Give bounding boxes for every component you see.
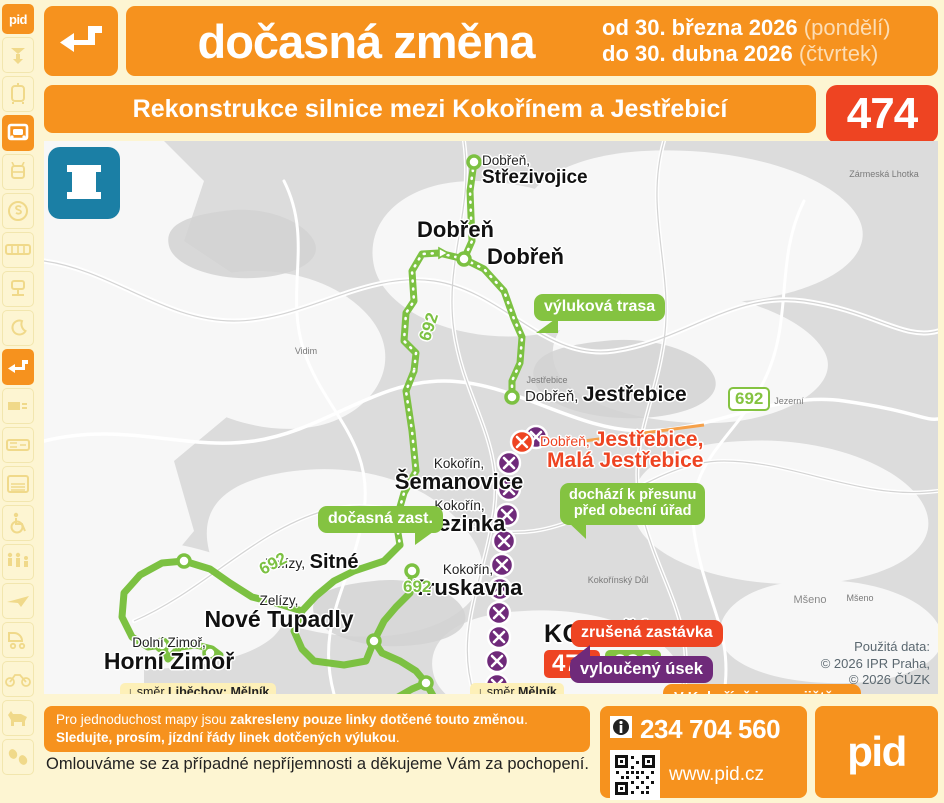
date-from-day: (pondělí)	[804, 15, 891, 40]
stop-label-jestrebice: Dobřeň, Jestřebice	[525, 384, 687, 405]
stop-name: Dobřeň	[417, 219, 494, 241]
stop-name: Sitné	[310, 551, 359, 573]
trolleybus-icon[interactable]	[2, 154, 34, 190]
callout-zrusena-zastavka: zrušená zastávka	[571, 620, 723, 647]
stop-label-nove-tupadly: Zelízy, Nové Tupadly	[164, 594, 394, 631]
bicycle-icon[interactable]	[2, 661, 34, 697]
callout-vylukova-trasa: výluková trasa	[534, 294, 665, 321]
attribution-line2: © 2026 IPR Praha,	[821, 656, 930, 672]
cancelled-stop-line1: Jestřebice,	[594, 428, 704, 451]
phone-row: 234 704 560	[610, 714, 797, 745]
svg-text:Jezerní: Jezerní	[774, 396, 804, 406]
web-row: www.pid.cz	[610, 750, 797, 800]
footer-note: Pro jednoduchost mapy jsou zakresleny po…	[44, 706, 590, 752]
callout-line1: V Kokoříně jsou zajištěny	[674, 690, 850, 694]
callout-presun: dochází k přesunu před obecní úřad	[560, 483, 705, 525]
callout-docasna-zast: dočasná zast.	[318, 506, 443, 533]
stop-name: Střezivojice	[482, 168, 588, 187]
svg-text:Zármeská Lhotka: Zármeská Lhotka	[849, 169, 919, 179]
map-canvas[interactable]: Vidim Kokořínský Důl Mšeno Jezerní Jestř…	[44, 141, 938, 694]
poster-root: pid	[0, 0, 944, 803]
stop-name: Jestřebice	[583, 383, 687, 406]
qr-code-icon	[610, 750, 660, 800]
stop-label-strezivojice: Dobřeň, Střezivojice	[482, 154, 588, 187]
page-title-text: dočasná změna	[197, 18, 534, 65]
callout-text: zrušená zastávka	[581, 624, 713, 641]
date-to-row: do 30. dubna 2026 (čtvrtek)	[602, 42, 878, 67]
footer-note-line1: Pro jednoduchost mapy jsou zakresleny po…	[56, 711, 578, 729]
svg-text:Kokořínský Důl: Kokořínský Důl	[588, 575, 649, 585]
website-url[interactable]: www.pid.cz	[669, 764, 764, 786]
callout-navaznosti: V Kokoříně jsou zajištěny návaznosti mez…	[663, 684, 861, 694]
svg-text:Vidim: Vidim	[295, 346, 317, 356]
detour-icon[interactable]	[2, 349, 34, 385]
dog-icon[interactable]	[2, 700, 34, 736]
validity-dates: od 30. března 2026 (pondělí) do 30. dubn…	[580, 6, 938, 76]
direction-tag-melnik: ↓ směr Mělník	[470, 683, 564, 694]
footer-note-line2: Sledujte, prosím, jízdní řády linek dotč…	[56, 729, 578, 747]
line-badge-474: 474	[826, 85, 938, 143]
bus-stop-icon	[48, 147, 120, 219]
info-icon	[610, 716, 632, 743]
icon-rail: pid	[2, 4, 36, 800]
direction-prefix: ↓ směr	[127, 685, 168, 694]
funicular-icon[interactable]	[2, 271, 34, 307]
footer-apology: Omlouváme se za případné nepříjemnosti a…	[46, 755, 606, 774]
badge-692-jestrebice: 692	[728, 387, 770, 411]
callout-line1: dochází k přesunu	[569, 487, 696, 503]
direction-tag-libechov: ↓ směr Liběchov; Mělník	[120, 683, 276, 694]
date-to-day: (čtvrtek)	[799, 41, 878, 66]
callout-text: dočasná zast.	[328, 510, 433, 527]
rail-pid-label: pid	[9, 12, 27, 27]
date-from-row: od 30. března 2026 (pondělí)	[602, 16, 891, 41]
tickets-icon[interactable]	[2, 427, 34, 463]
metro-icon[interactable]	[2, 37, 34, 73]
cancelled-stop-pre: Dobřeň,	[540, 433, 590, 449]
phone-number[interactable]: 234 704 560	[640, 714, 780, 745]
route-number-692-south: 692	[403, 577, 431, 597]
bus-icon[interactable]	[2, 115, 34, 151]
ferry-icon[interactable]	[2, 193, 34, 229]
direction-text: Liběchov; Mělník	[168, 685, 269, 694]
date-from: od 30. března 2026	[602, 15, 798, 40]
note-end: .	[396, 730, 400, 745]
pid-logo-text: pid	[847, 728, 905, 776]
note-bold: Sledujte, prosím, jízdní řády linek dotč…	[56, 730, 396, 745]
stop-pre: Dobřeň,	[482, 154, 588, 168]
cancelled-stop-line2: Malá Jestřebice	[540, 450, 703, 471]
note-normal: Pro jednoduchost mapy jsou	[56, 712, 230, 727]
callout-vylouceny-usek: vyloučený úsek	[570, 656, 713, 683]
stop-label-horni-zimor: Dolní Zimoř, Horní Zimoř	[59, 636, 279, 673]
train-icon[interactable]	[2, 232, 34, 268]
stop-name: Šemanovice	[369, 471, 549, 493]
callout-text: vyloučený úsek	[580, 660, 703, 678]
footpath-icon[interactable]	[2, 739, 34, 775]
stop-name: Horní Zimoř	[59, 650, 279, 673]
map-attribution: Použitá data: © 2026 IPR Praha, © 2026 Č…	[821, 639, 930, 688]
family-icon[interactable]	[2, 544, 34, 580]
svg-text:Mšeno: Mšeno	[846, 593, 873, 603]
svg-text:Mšeno: Mšeno	[793, 594, 826, 606]
cancelled-stop-label: Dobřeň, Jestřebice, Malá Jestřebice	[540, 429, 703, 472]
info-panel-icon[interactable]	[2, 466, 34, 502]
stroller-icon[interactable]	[2, 622, 34, 658]
direction-text: Mělník	[518, 685, 557, 694]
stop-label-semanovice: Kokořín, Šemanovice	[369, 457, 549, 493]
note-bold: zakresleny pouze linky dotčené touto změ…	[230, 712, 524, 727]
tram-icon[interactable]	[2, 76, 34, 112]
airport-icon[interactable]	[2, 583, 34, 619]
subtitle-text: Rekonstrukce silnice mezi Kokořínem a Je…	[133, 95, 728, 124]
stop-label-dobren-temporary: Dobřeň	[417, 219, 494, 241]
wheelchair-icon[interactable]	[2, 505, 34, 541]
stop-pre: Dobřeň,	[525, 388, 578, 405]
rail-pid-logo[interactable]: pid	[2, 4, 34, 34]
detour-arrow-icon	[44, 6, 118, 76]
header-top-row: dočasná změna	[44, 6, 606, 76]
night-service-icon[interactable]	[2, 310, 34, 346]
direction-prefix: ↓ směr	[477, 685, 518, 694]
footer-contact: 234 704 560	[600, 706, 807, 798]
footer-pid-logo: pid	[815, 706, 938, 798]
stop-name: Nové Tupadly	[164, 608, 394, 631]
line-474-number: 474	[847, 92, 917, 136]
attribution-line1: Použitá data:	[821, 639, 930, 655]
stop-name: Dobřeň	[487, 246, 564, 268]
stop-label-dobren: Dobřeň	[487, 246, 564, 268]
page-title: dočasná změna	[126, 6, 606, 76]
subtitle-banner: Rekonstrukce silnice mezi Kokořínem a Je…	[44, 85, 816, 133]
callout-line2: před obecní úřad	[569, 503, 696, 519]
note-end: .	[524, 712, 528, 727]
date-to: do 30. dubna 2026	[602, 41, 793, 66]
callout-text: výluková trasa	[544, 298, 655, 315]
ticket-machine-icon[interactable]	[2, 388, 34, 424]
